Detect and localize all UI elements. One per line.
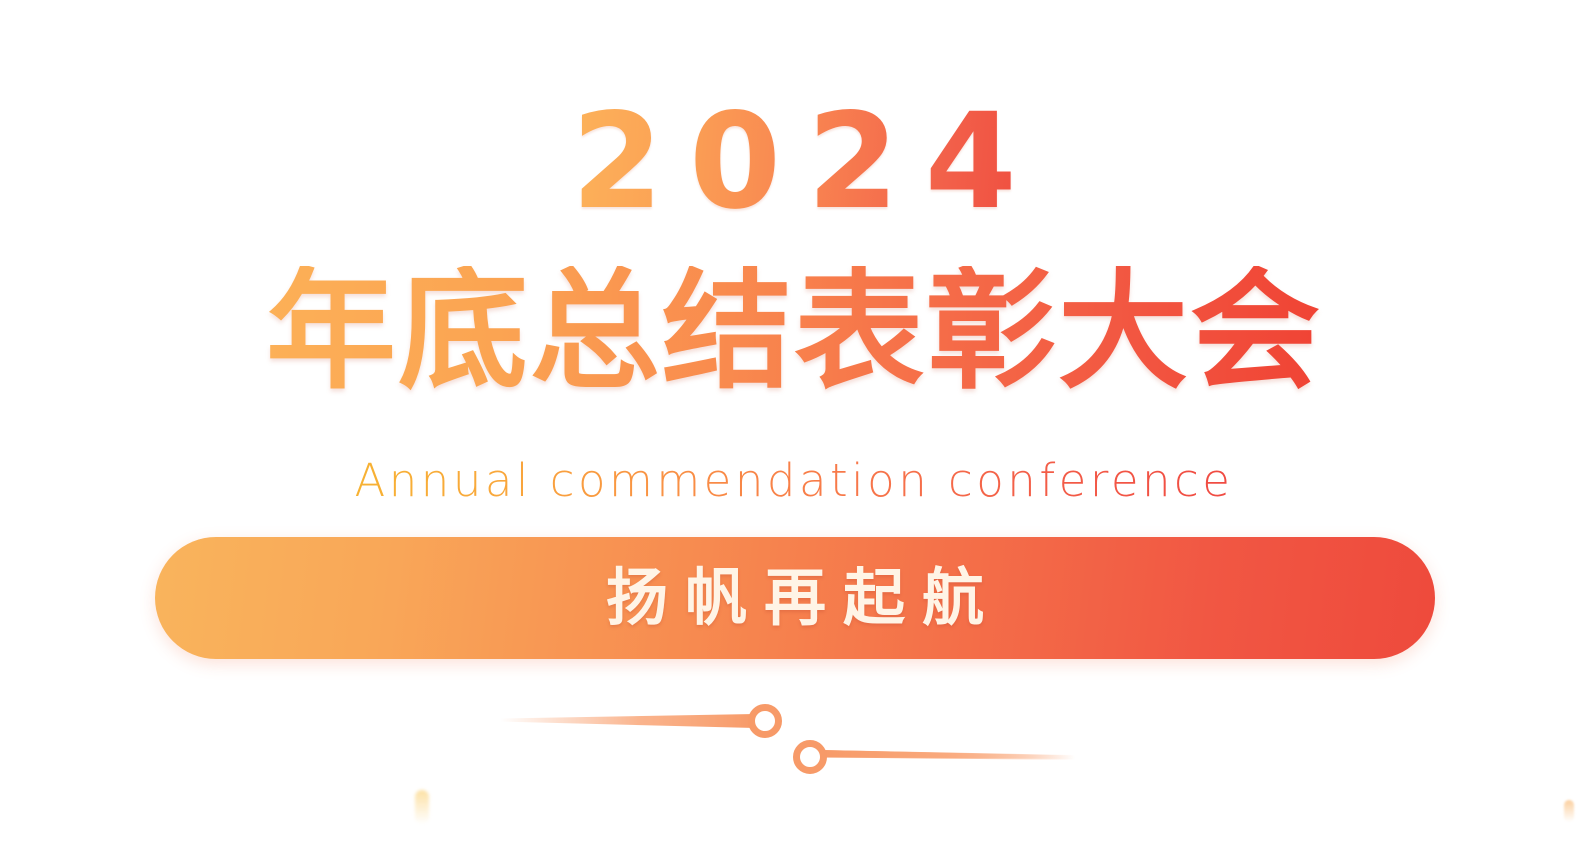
subtitle-text: Annual commendation conference bbox=[355, 458, 1234, 503]
tapered-line-right-body-icon bbox=[820, 750, 1075, 760]
tapered-line-right-icon bbox=[820, 750, 1075, 759]
english-subtitle: Annual commendation conference bbox=[0, 458, 1588, 503]
ring-lower-icon bbox=[797, 744, 824, 771]
ring-upper-icon bbox=[752, 708, 779, 735]
slogan-text: 扬帆再起航 bbox=[589, 567, 1001, 629]
accent-mark-left bbox=[415, 790, 429, 824]
accent-mark-right bbox=[1564, 800, 1574, 822]
poster-canvas: 2024 年底总结表彰大会 Annual commendation confer… bbox=[0, 0, 1588, 868]
decorative-divider bbox=[0, 660, 1588, 860]
main-headline: 年底总结表彰大会 bbox=[0, 266, 1588, 396]
year-heading: 2024 bbox=[0, 96, 1588, 228]
tapered-line-left-icon bbox=[500, 714, 755, 728]
year-text: 2024 bbox=[545, 96, 1042, 228]
headline-text: 年底总结表彰大会 bbox=[266, 266, 1322, 396]
slogan-banner: 扬帆再起航 bbox=[155, 537, 1435, 659]
